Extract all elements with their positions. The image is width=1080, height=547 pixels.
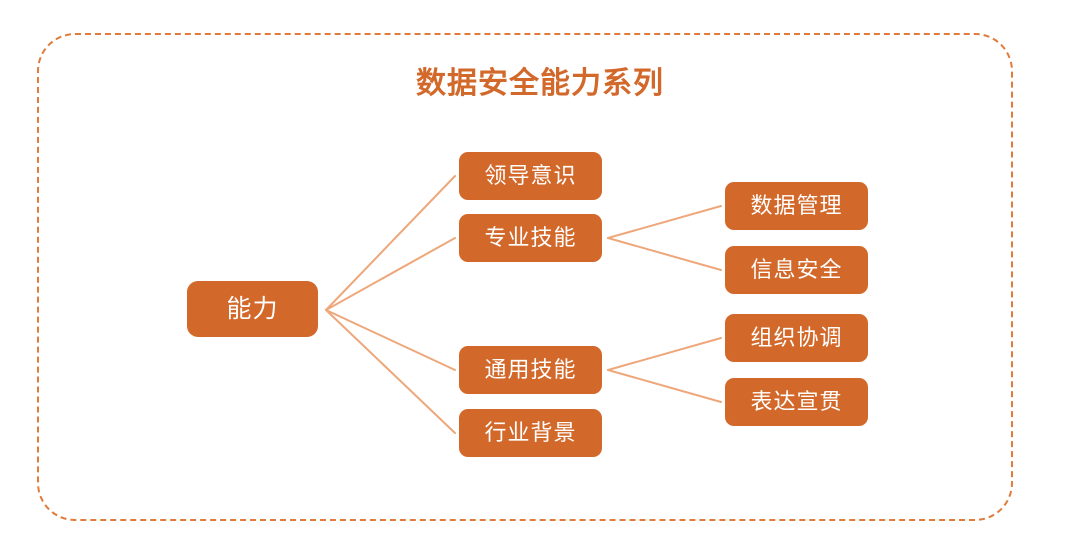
node-level3-4[interactable]: 表达宣贯 <box>725 378 868 426</box>
connector-l2-2-to-l3-2 <box>608 238 721 270</box>
node-label: 领导意识 <box>484 165 576 187</box>
node-label: 组织协调 <box>750 327 842 349</box>
node-level2-1[interactable]: 领导意识 <box>459 152 602 200</box>
connector-root-to-l2-2 <box>326 238 455 310</box>
connector-root-to-l2-1 <box>326 176 455 310</box>
connector-l2-3-to-l3-4 <box>608 370 721 402</box>
node-root[interactable]: 能力 <box>187 281 318 337</box>
node-label: 信息安全 <box>750 259 842 281</box>
node-label: 数据管理 <box>750 195 842 217</box>
node-level2-2[interactable]: 专业技能 <box>459 214 602 262</box>
node-level3-1[interactable]: 数据管理 <box>725 182 868 230</box>
diagram-canvas: 数据安全能力系列 能力领导意识专业技能通用技能行业背景数据管理信息安全组织协调表… <box>0 0 1080 547</box>
node-label: 能力 <box>226 297 278 322</box>
node-label: 专业技能 <box>484 227 576 249</box>
node-level2-4[interactable]: 行业背景 <box>459 409 602 457</box>
node-level3-2[interactable]: 信息安全 <box>725 246 868 294</box>
node-label: 表达宣贯 <box>750 391 842 413</box>
page-title: 数据安全能力系列 <box>0 64 1080 104</box>
connector-root-to-l2-4 <box>326 310 455 433</box>
node-level3-3[interactable]: 组织协调 <box>725 314 868 362</box>
connector-l2-3-to-l3-3 <box>608 338 721 370</box>
node-label: 行业背景 <box>484 422 576 444</box>
connector-l2-2-to-l3-1 <box>608 206 721 238</box>
node-level2-3[interactable]: 通用技能 <box>459 346 602 394</box>
connector-root-to-l2-3 <box>326 310 455 370</box>
node-label: 通用技能 <box>484 359 576 381</box>
